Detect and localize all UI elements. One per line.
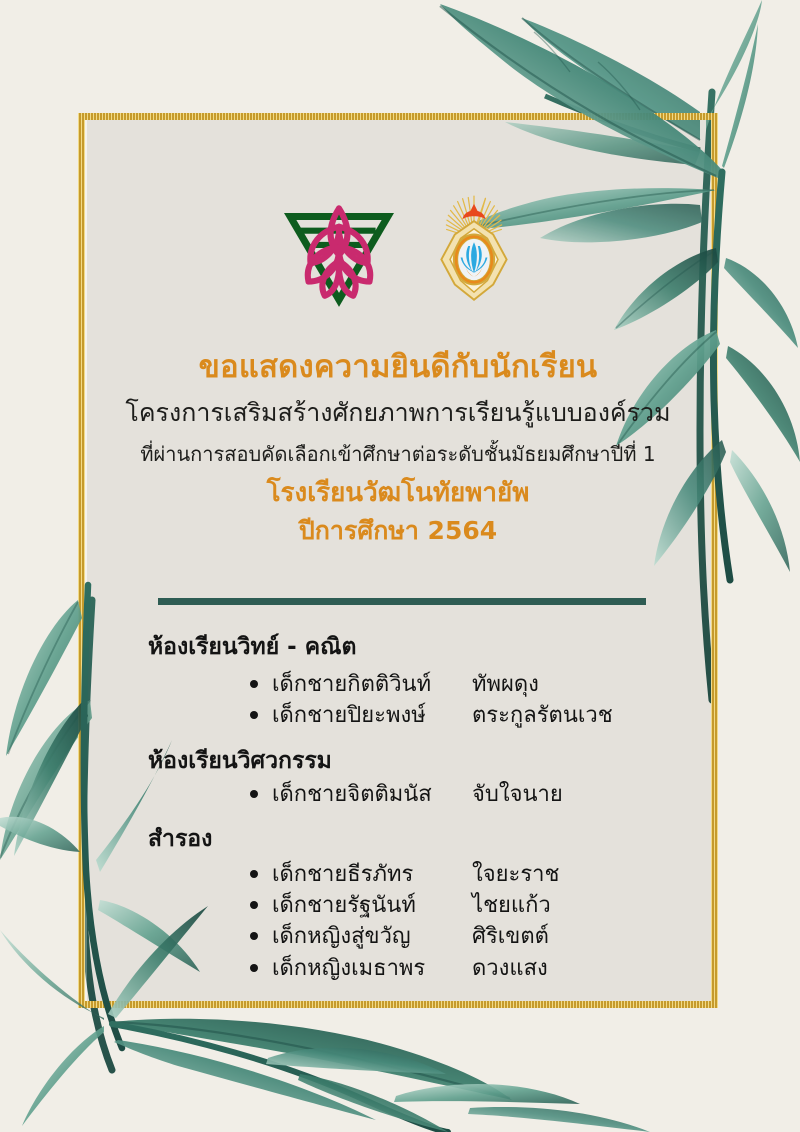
bullet-icon xyxy=(250,964,258,972)
student-given-name: เด็กชายปิยะพงษ์ xyxy=(272,700,472,731)
student-given-name: เด็กหญิงสู่ขวัญ xyxy=(272,921,472,952)
student-family-name: ไชยแก้ว xyxy=(472,890,551,921)
student-lists: ห้องเรียนวิทย์ - คณิต เด็กชายกิตติวินท์ … xyxy=(86,632,710,984)
project-name: โครงการเสริมสร้างศักยภาพการเรียนรู้แบบอง… xyxy=(86,397,710,430)
student-given-name: เด็กชายธีรภัทร xyxy=(272,859,472,890)
student-given-name: เด็กหญิงเมธาพร xyxy=(272,953,472,984)
student-list-science-math: เด็กชายกิตติวินท์ ทัพผดุง เด็กชายปิยะพงษ… xyxy=(86,669,710,731)
congratulations-poster: ขอแสดงความยินดีกับนักเรียน โครงการเสริมส… xyxy=(0,0,800,1132)
student-given-name: เด็กชายกิตติวินท์ xyxy=(272,669,472,700)
logo-row xyxy=(0,186,800,308)
exam-description: ที่ผ่านการสอบคัดเลือกเข้าศึกษาต่อระดับชั… xyxy=(86,441,710,467)
list-item: เด็กชายปิยะพงษ์ ตระกูลรัตนเวช xyxy=(272,700,710,731)
student-family-name: ดวงแสง xyxy=(472,953,548,984)
reserve-title: สำรอง xyxy=(148,824,710,855)
student-family-name: ใจยะราช xyxy=(472,859,559,890)
list-item: เด็กหญิงเมธาพร ดวงแสง xyxy=(272,953,710,984)
school-name: โรงเรียนวัฒโนทัยพายัพ xyxy=(86,477,710,511)
student-family-name: จับใจนาย xyxy=(472,779,563,810)
list-item: เด็กชายธีรภัทร ใจยะราช xyxy=(272,859,710,890)
group-title-science-math: ห้องเรียนวิทย์ - คณิต xyxy=(148,632,710,663)
royal-medal-emblem-logo xyxy=(426,186,522,308)
bullet-icon xyxy=(250,932,258,940)
student-family-name: ทัพผดุง xyxy=(472,669,539,700)
student-family-name: ตระกูลรัตนเวช xyxy=(472,700,613,731)
academic-year: ปีการศึกษา 2564 xyxy=(86,515,710,548)
bullet-icon xyxy=(250,680,258,688)
bullet-icon xyxy=(250,790,258,798)
student-given-name: เด็กชายจิตติมนัส xyxy=(272,779,472,810)
group-title-engineering: ห้องเรียนวิศวกรรม xyxy=(148,746,710,777)
page-title: ขอแสดงความยินดีกับนักเรียน xyxy=(86,348,710,387)
list-item: เด็กชายจิตติมนัส จับใจนาย xyxy=(272,779,710,810)
list-item: เด็กหญิงสู่ขวัญ ศิริเขตต์ xyxy=(272,921,710,952)
lotus-triangle-logo xyxy=(278,186,400,308)
bullet-icon xyxy=(250,870,258,878)
list-item: เด็กชายกิตติวินท์ ทัพผดุง xyxy=(272,669,710,700)
student-given-name: เด็กชายรัฐนันท์ xyxy=(272,890,472,921)
bullet-icon xyxy=(250,901,258,909)
section-divider xyxy=(158,598,646,605)
student-family-name: ศิริเขตต์ xyxy=(472,921,549,952)
bullet-icon xyxy=(250,711,258,719)
list-item: เด็กชายรัฐนันท์ ไชยแก้ว xyxy=(272,890,710,921)
header-text-block: ขอแสดงความยินดีกับนักเรียน โครงการเสริมส… xyxy=(86,348,710,548)
student-list-reserve: เด็กชายธีรภัทร ใจยะราช เด็กชายรัฐนันท์ ไ… xyxy=(86,859,710,984)
student-list-engineering: เด็กชายจิตติมนัส จับใจนาย xyxy=(86,779,710,810)
